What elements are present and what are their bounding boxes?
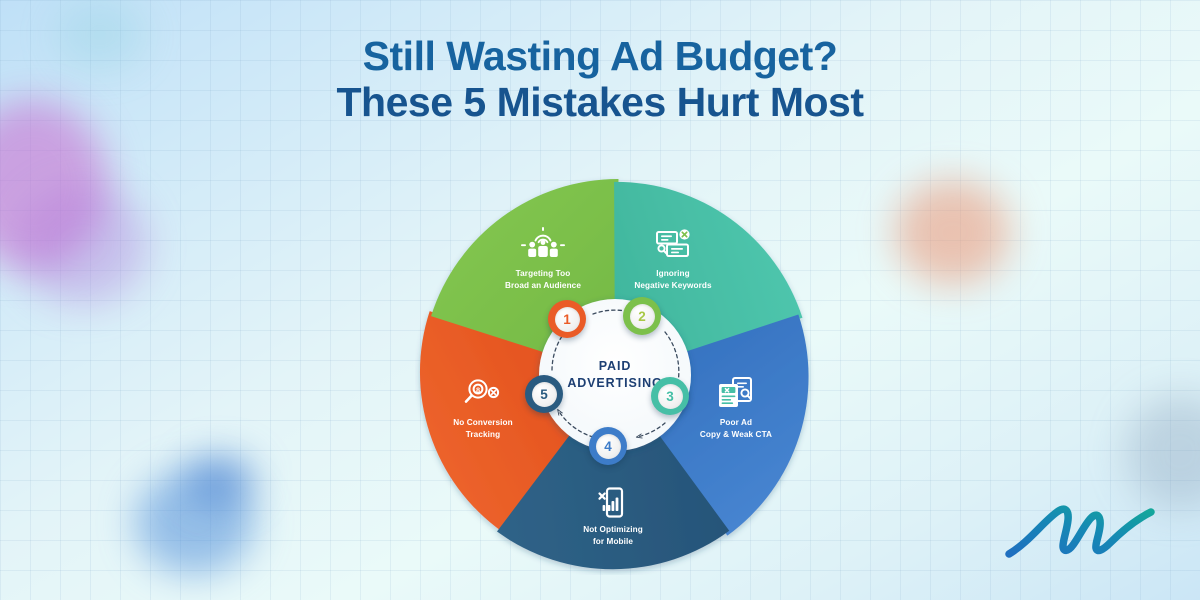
step-node-5-number: 5	[532, 382, 557, 407]
decor-blob-coral	[895, 180, 1010, 285]
mw-logo[interactable]	[1005, 498, 1155, 568]
hub-line-1: PAID	[545, 358, 685, 375]
step-node-2[interactable]: 2	[623, 297, 661, 335]
step-node-3-number: 3	[658, 384, 683, 409]
step-node-5[interactable]: 5	[525, 375, 563, 413]
decor-blob-blue	[135, 470, 255, 575]
page-title: Still Wasting Ad Budget? These 5 Mistake…	[0, 34, 1200, 126]
step-node-4[interactable]: 4	[589, 427, 627, 465]
paid-advertising-wheel: PAID ADVERTISING Targeting Too Broad an …	[415, 175, 815, 575]
decor-blob-lavender	[18, 185, 148, 305]
step-node-3[interactable]: 3	[651, 377, 689, 415]
decor-blob-blue-small	[185, 455, 255, 505]
step-node-1-number: 1	[555, 307, 580, 332]
title-line-1: Still Wasting Ad Budget?	[0, 34, 1200, 80]
step-node-2-number: 2	[630, 304, 655, 329]
decor-blob-slate	[1125, 395, 1200, 510]
step-node-4-number: 4	[596, 434, 621, 459]
title-line-2: These 5 Mistakes Hurt Most	[0, 80, 1200, 126]
step-node-1[interactable]: 1	[548, 300, 586, 338]
